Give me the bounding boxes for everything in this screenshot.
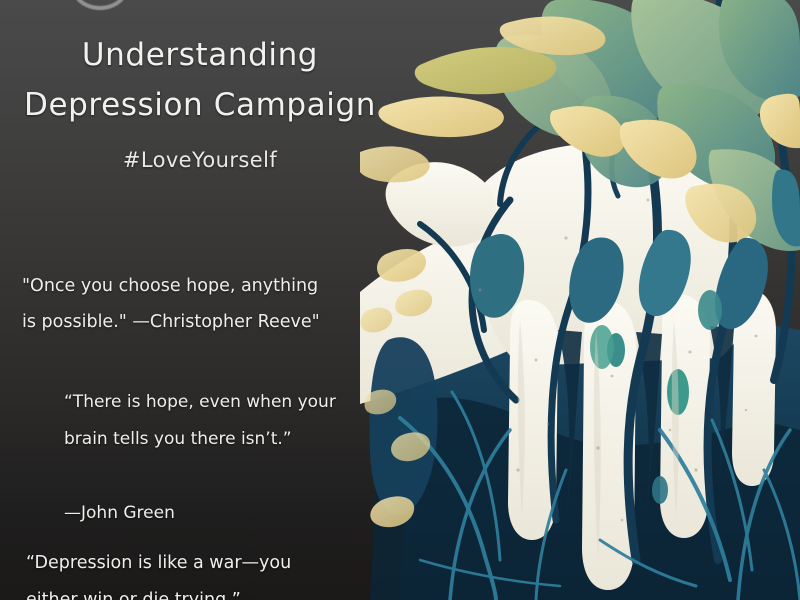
poster-canvas: Understanding Depression Campaign #LoveY… [0, 0, 800, 600]
quote-text: “Depression is like a war—you either win… [26, 545, 366, 600]
quote-text: “There is hope, even when your brain tel… [64, 384, 394, 458]
hand-and-vines-illustration [360, 0, 800, 600]
campaign-hashtag: #LoveYourself [0, 148, 400, 172]
page-title: Understanding Depression Campaign [0, 30, 400, 130]
quote-text: "Once you choose hope, anything is possi… [22, 268, 372, 340]
text-column: Understanding Depression Campaign #LoveY… [0, 0, 400, 600]
quote-anonymous: “Depression is like a war—you either win… [26, 508, 366, 600]
